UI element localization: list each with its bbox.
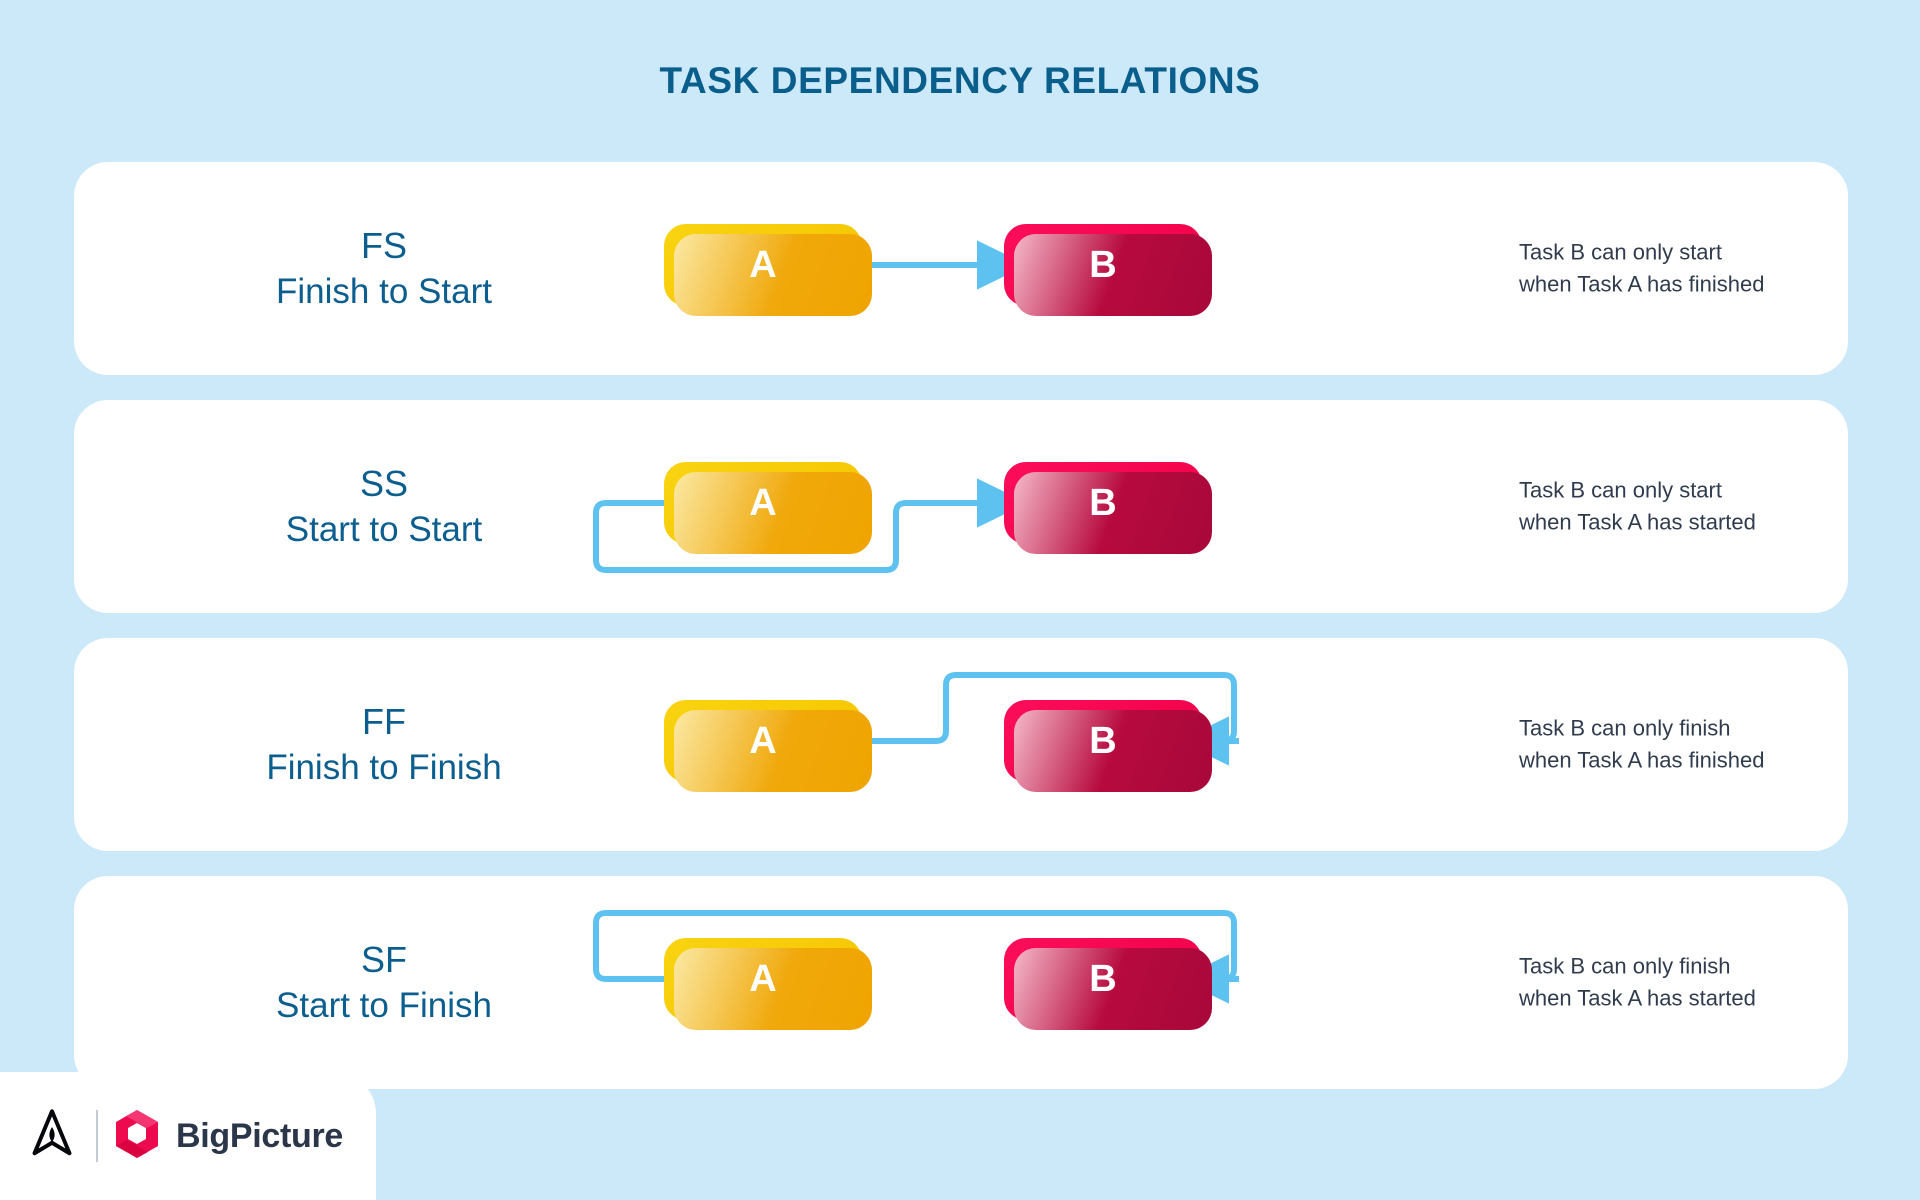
dependency-description-fs: Task B can only start when Task A has fi…	[1519, 236, 1899, 301]
brand-logo-badge: BigPicture	[0, 1072, 376, 1200]
task-box-b-label: B	[1089, 482, 1116, 525]
task-box-a[interactable]: A	[664, 462, 862, 544]
compass-arrow-icon	[24, 1106, 80, 1167]
dependency-name: Finish to Start	[134, 269, 634, 315]
task-box-a-label: A	[749, 244, 776, 287]
dependency-code: FS	[134, 222, 634, 270]
dependency-code: FF	[134, 698, 634, 746]
infographic-canvas: TASK DEPENDENCY RELATIONS FS Finish to S…	[0, 0, 1920, 1200]
dependency-label-ss: SS Start to Start	[134, 460, 634, 554]
task-box-a-label: A	[749, 482, 776, 525]
task-box-b[interactable]: B	[1004, 462, 1202, 544]
dependency-code: SF	[134, 936, 634, 984]
dependency-code: SS	[134, 460, 634, 508]
dependency-card-ff: FF Finish to Finish A B	[74, 638, 1848, 851]
description-line-2: when Task A has finished	[1519, 745, 1899, 778]
task-box-b[interactable]: B	[1004, 700, 1202, 782]
dependency-description-ff: Task B can only finish when Task A has f…	[1519, 712, 1899, 777]
task-box-b-label: B	[1089, 958, 1116, 1001]
dependency-label-sf: SF Start to Finish	[134, 936, 634, 1030]
dependency-name: Finish to Finish	[134, 745, 634, 791]
description-line-2: when Task A has started	[1519, 983, 1899, 1016]
brand-name: BigPicture	[176, 1117, 343, 1156]
dependency-diagram-ff: A B	[664, 638, 1464, 851]
dependency-label-ff: FF Finish to Finish	[134, 698, 634, 792]
description-line-2: when Task A has finished	[1519, 269, 1899, 302]
dependency-name: Start to Start	[134, 507, 634, 553]
dependency-diagram-sf: A B	[664, 876, 1464, 1089]
task-box-b[interactable]: B	[1004, 938, 1202, 1020]
dependency-card-sf: SF Start to Finish A B	[74, 876, 1848, 1089]
description-line-1: Task B can only finish	[1519, 950, 1899, 983]
task-box-a-label: A	[749, 958, 776, 1001]
page-title: TASK DEPENDENCY RELATIONS	[0, 60, 1920, 102]
description-line-1: Task B can only start	[1519, 474, 1899, 507]
dependency-diagram-fs: A B	[664, 162, 1464, 375]
task-box-a-label: A	[749, 720, 776, 763]
dependency-label-fs: FS Finish to Start	[134, 222, 634, 316]
dependency-description-ss: Task B can only start when Task A has st…	[1519, 474, 1899, 539]
description-line-2: when Task A has started	[1519, 507, 1899, 540]
description-line-1: Task B can only start	[1519, 236, 1899, 269]
dependency-name: Start to Finish	[134, 983, 634, 1029]
dependency-card-ss: SS Start to Start A B Task B	[74, 400, 1848, 613]
logo-divider	[96, 1110, 98, 1162]
bigpicture-hexagon-icon	[114, 1109, 160, 1164]
task-box-a[interactable]: A	[664, 700, 862, 782]
task-box-b[interactable]: B	[1004, 224, 1202, 306]
dependency-description-sf: Task B can only finish when Task A has s…	[1519, 950, 1899, 1015]
dependency-diagram-ss: A B	[664, 400, 1464, 613]
task-box-a[interactable]: A	[664, 224, 862, 306]
task-box-b-label: B	[1089, 720, 1116, 763]
task-box-a[interactable]: A	[664, 938, 862, 1020]
dependency-card-fs: FS Finish to Start A B Task	[74, 162, 1848, 375]
task-box-b-label: B	[1089, 244, 1116, 287]
description-line-1: Task B can only finish	[1519, 712, 1899, 745]
